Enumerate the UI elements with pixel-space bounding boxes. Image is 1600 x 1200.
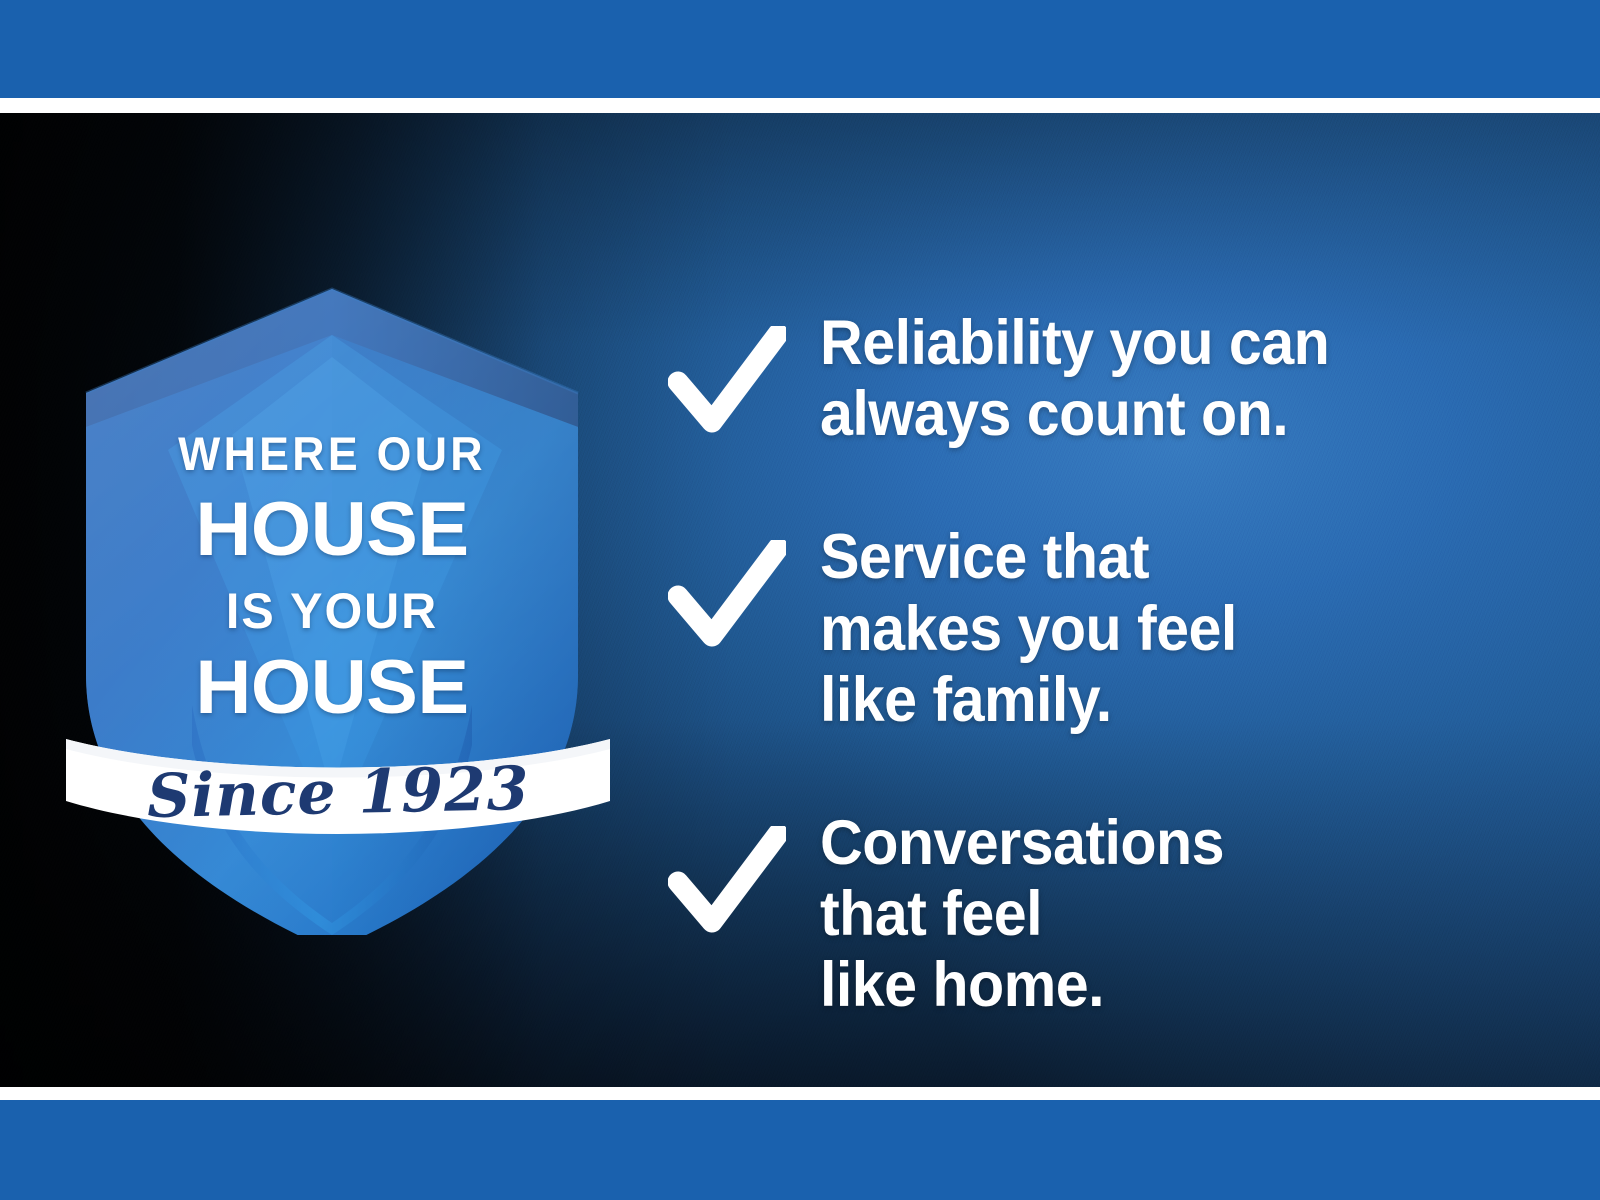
top-white-stripe: [0, 98, 1600, 113]
main-stage: WHERE OUR HOUSE IS YOUR HOUSE Since 1923: [0, 113, 1600, 1088]
shield-badge: WHERE OUR HOUSE IS YOUR HOUSE Since 1923: [72, 275, 592, 935]
benefit-text: Service that makes you feel like family.: [820, 522, 1237, 736]
bottom-brand-band: [0, 1100, 1600, 1200]
benefits-list: Reliability you can always count on. Ser…: [668, 308, 1548, 1022]
promo-graphic: WHERE OUR HOUSE IS YOUR HOUSE Since 1923: [0, 0, 1600, 1200]
benefit-text: Reliability you can always count on.: [820, 308, 1329, 450]
top-brand-band: [0, 0, 1600, 98]
ribbon-text: Since 1923: [58, 699, 617, 861]
list-item: Conversations that feel like home.: [668, 808, 1548, 1022]
benefit-text: Conversations that feel like home.: [820, 808, 1224, 1022]
checkmark-icon: [668, 326, 786, 434]
list-item: Service that makes you feel like family.: [668, 522, 1548, 736]
list-item: Reliability you can always count on.: [668, 308, 1548, 450]
badge-ribbon: Since 1923: [60, 705, 616, 855]
checkmark-icon: [668, 540, 786, 648]
bottom-white-stripe: [0, 1087, 1600, 1100]
checkmark-icon: [668, 826, 786, 934]
